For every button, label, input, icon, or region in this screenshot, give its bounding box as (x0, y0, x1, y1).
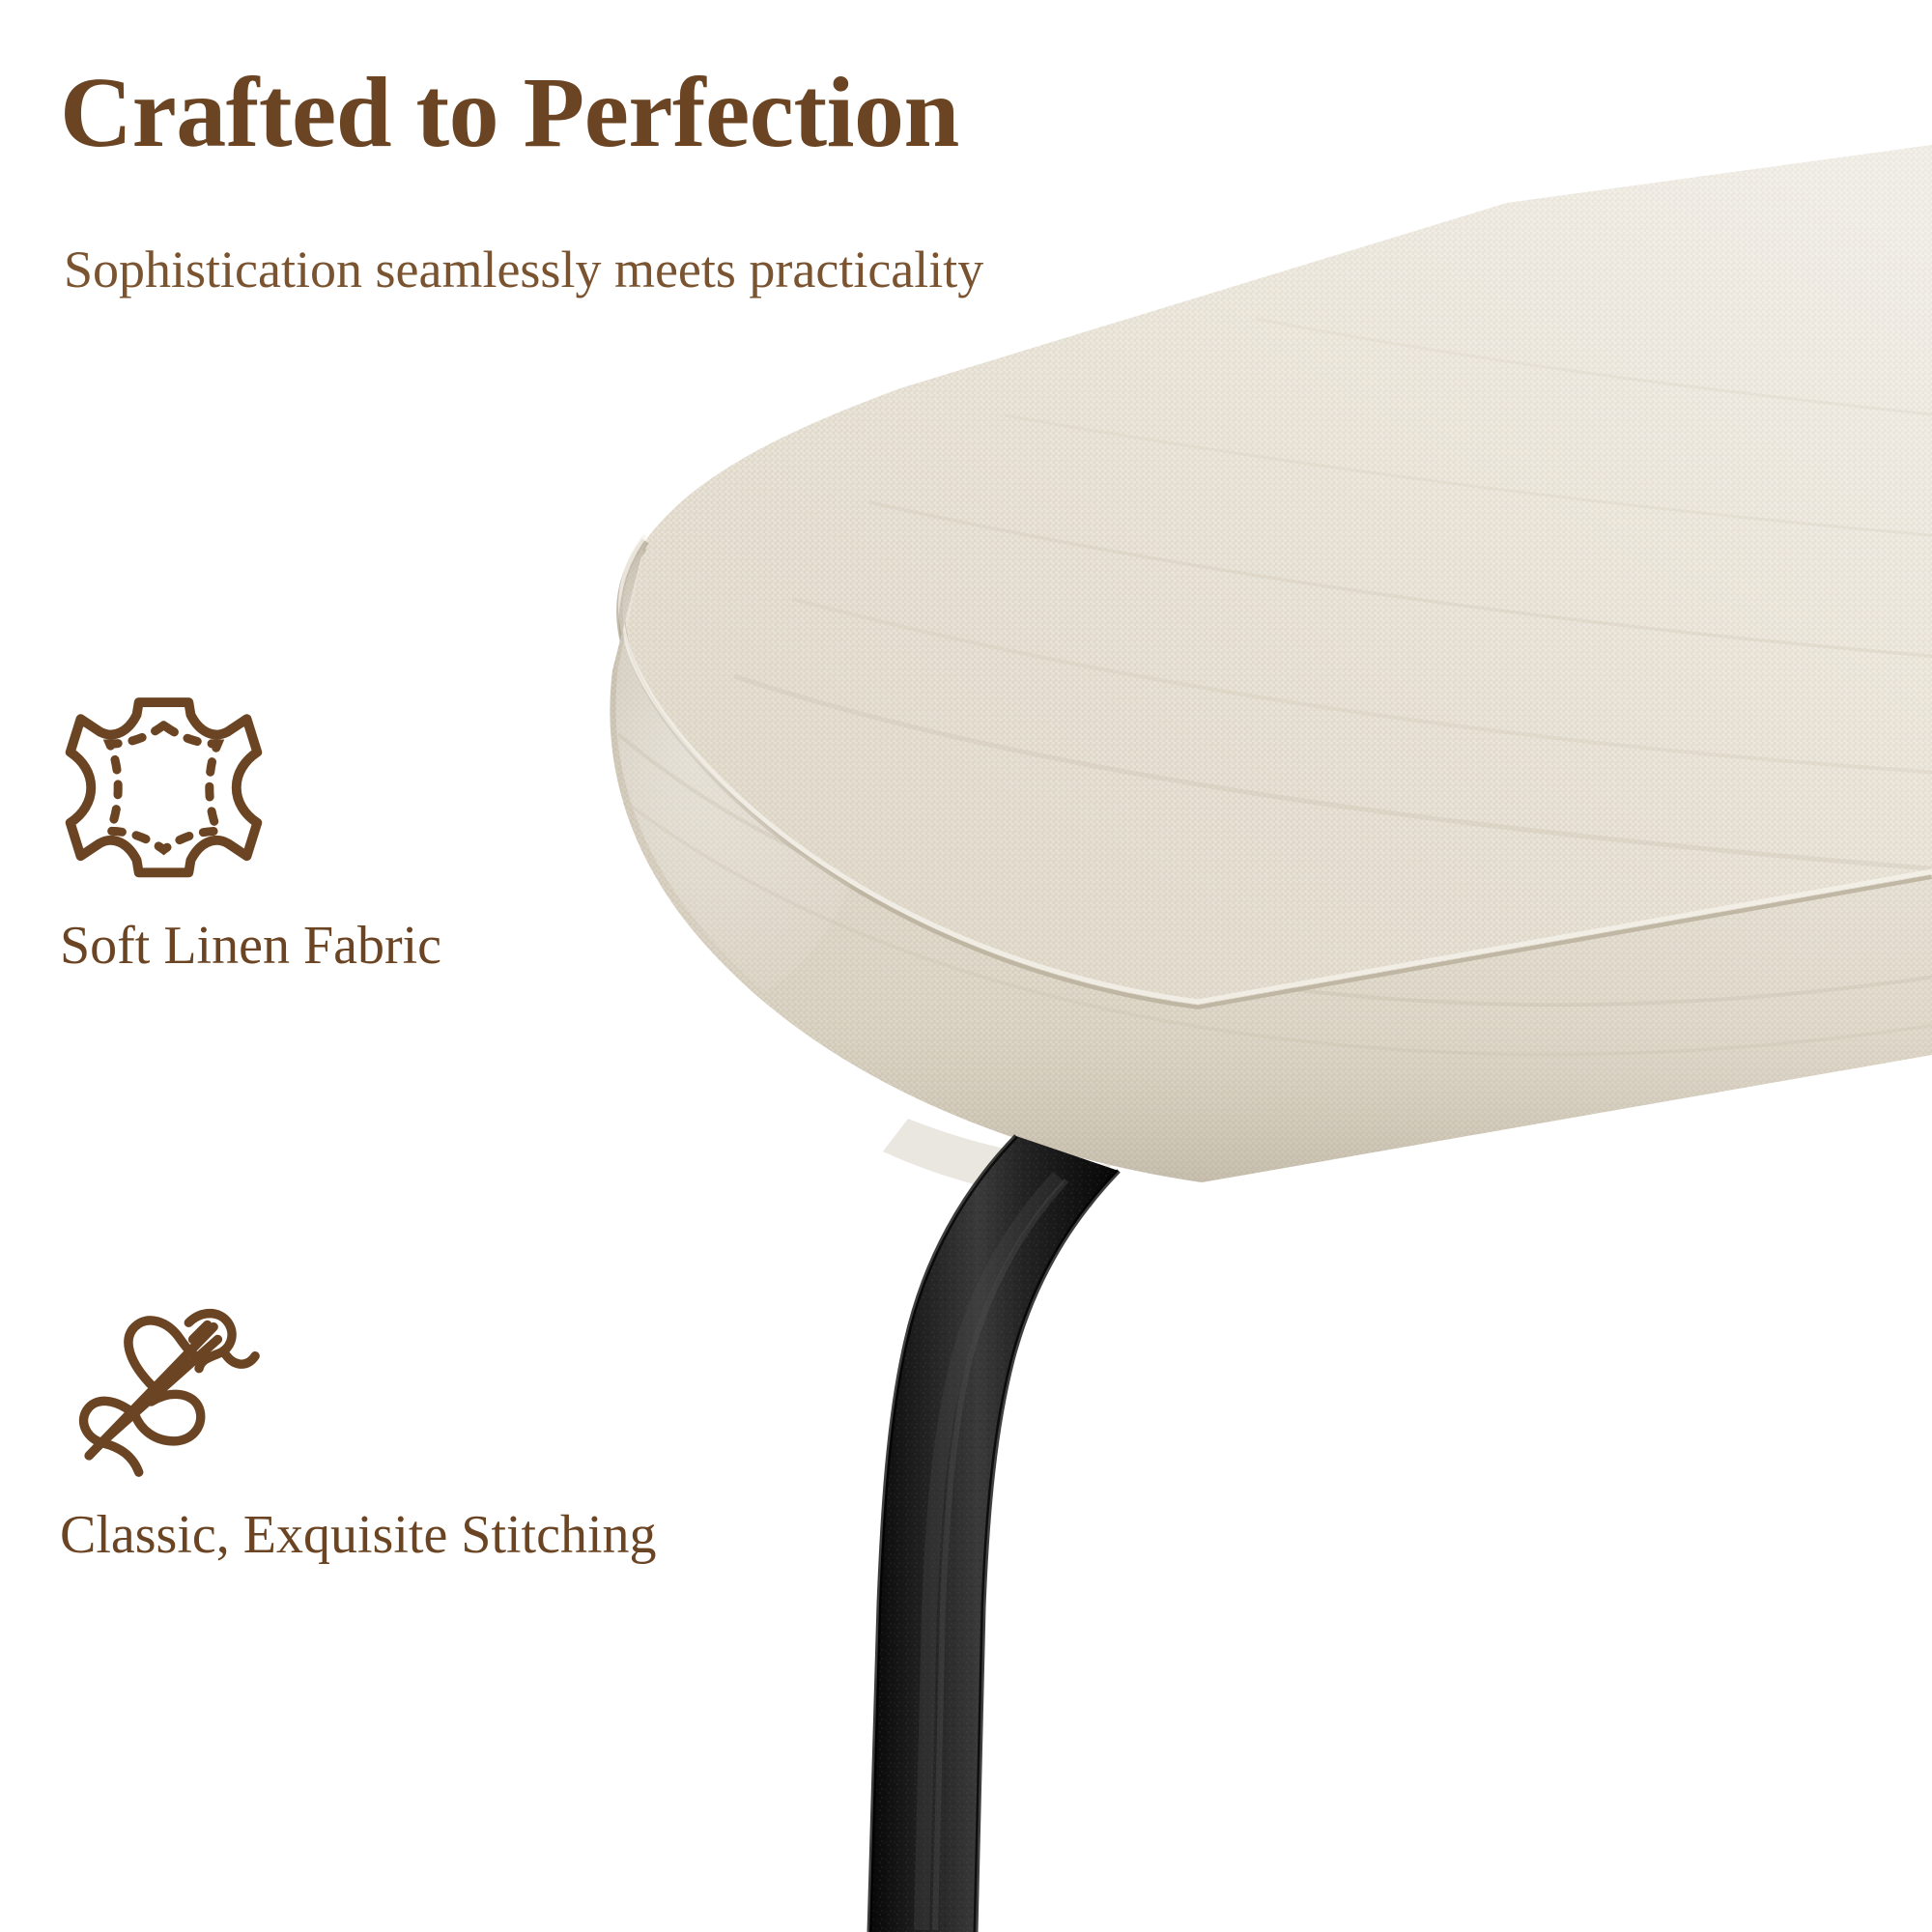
feature-label: Classic, Exquisite Stitching (60, 1506, 657, 1566)
feature-label: Soft Linen Fabric (60, 917, 441, 977)
page-title: Crafted to Perfection (60, 60, 959, 166)
page-subtitle: Sophistication seamlessly meets practica… (64, 240, 983, 299)
metal-leg (869, 1119, 1119, 1932)
feature-item-classic-stitching: Classic, Exquisite Stitching (60, 1277, 657, 1566)
product-feature-card: Crafted to Perfection Sophistication sea… (0, 0, 1932, 1932)
feature-item-soft-linen-fabric: Soft Linen Fabric (60, 688, 441, 977)
cushion-piping-seam (621, 535, 1932, 1021)
needle-and-thread-icon (60, 1277, 268, 1485)
leather-hide-icon (60, 688, 268, 895)
cushion-side-band (504, 531, 1932, 1182)
